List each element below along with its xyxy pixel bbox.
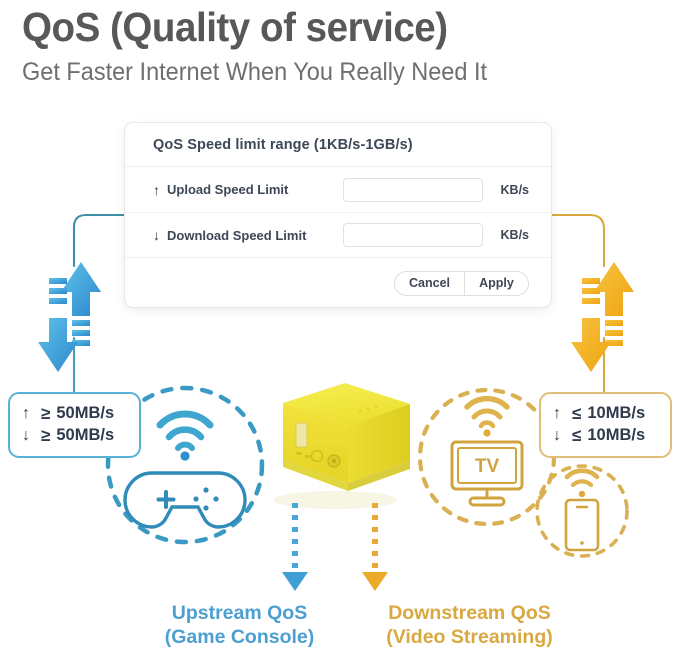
router-device [273, 383, 410, 509]
connector-left [50, 215, 124, 410]
gamepad-icon [125, 473, 245, 527]
dialog-title: QoS Speed limit range (1KB/s-1GB/s) [153, 137, 413, 153]
downstream-badge-line-download: ↓ ≤ 10MB/s [553, 425, 660, 447]
downstream-download-comparator: ≤ [572, 425, 581, 447]
downstream-flow-arrow-icon [362, 503, 388, 591]
diagram-artwork: TV [0, 0, 679, 657]
wifi-icon [567, 471, 597, 498]
arrow-up-icon: ↑ [22, 404, 35, 425]
downstream-download-value: 10MB/s [587, 425, 645, 446]
upstream-badge-line-download: ↓ ≥ 50MB/s [22, 425, 129, 447]
downstream-upload-comparator: ≤ [572, 403, 581, 425]
upstream-upload-value: 50MB/s [56, 403, 114, 424]
upstream-transfer-arrow-icon [38, 262, 101, 372]
page-subtitle: Get Faster Internet When You Really Need… [22, 58, 487, 87]
upstream-badge-line-upload: ↑ ≥ 50MB/s [22, 403, 129, 425]
downstream-caption: Downstream QoS (Video Streaming) [352, 602, 587, 650]
tv-icon [452, 442, 522, 505]
upstream-download-value: 50MB/s [56, 425, 114, 446]
upstream-caption: Upstream QoS (Game Console) [142, 602, 337, 650]
cancel-button[interactable]: Cancel [394, 271, 465, 296]
arrow-down-icon: ↓ [22, 426, 35, 447]
upstream-upload-comparator: ≥ [41, 403, 50, 425]
upload-speed-unit: KB/s [483, 183, 529, 197]
downstream-caption-line2: (Video Streaming) [352, 626, 587, 650]
infographic-canvas: QoS (Quality of service) Get Faster Inte… [0, 0, 679, 657]
qos-speed-limit-dialog[interactable]: QoS Speed limit range (1KB/s-1GB/s) ↑ Up… [124, 122, 552, 308]
tv-device-group: TV [420, 390, 554, 524]
page-title: QoS (Quality of service) [22, 4, 448, 51]
download-speed-limit-label: ↓ Download Speed Limit [153, 228, 306, 243]
dialog-header: QoS Speed limit range (1KB/s-1GB/s) [125, 123, 551, 167]
phone-device-group [537, 466, 627, 556]
upload-speed-limit-label: ↑ Upload Speed Limit [153, 182, 288, 197]
apply-button[interactable]: Apply [465, 271, 529, 296]
upstream-speed-badge: ↑ ≥ 50MB/s ↓ ≥ 50MB/s [8, 392, 141, 458]
smartphone-icon [566, 500, 598, 550]
upload-speed-limit-row: ↑ Upload Speed Limit KB/s [125, 167, 551, 212]
download-speed-limit-input[interactable] [343, 223, 483, 247]
arrow-down-icon: ↓ [153, 228, 160, 242]
arrow-up-icon: ↑ [553, 404, 566, 425]
upload-speed-limit-text: Upload Speed Limit [167, 182, 288, 197]
arrow-up-icon: ↑ [153, 183, 160, 197]
tv-screen-label: TV [475, 456, 500, 477]
wifi-icon [160, 414, 210, 461]
downstream-upload-value: 10MB/s [587, 403, 645, 424]
downstream-badge-line-upload: ↑ ≤ 10MB/s [553, 403, 660, 425]
dialog-footer: Cancel Apply [125, 257, 551, 308]
download-speed-limit-text: Download Speed Limit [167, 228, 306, 243]
arrow-down-icon: ↓ [553, 426, 566, 447]
upstream-caption-line1: Upstream QoS [142, 602, 337, 626]
connector-right [552, 215, 628, 410]
upstream-flow-arrow-icon [282, 503, 308, 591]
wifi-icon [467, 399, 507, 437]
downstream-transfer-arrow-icon [571, 262, 634, 372]
downstream-speed-badge: ↑ ≤ 10MB/s ↓ ≤ 10MB/s [539, 392, 672, 458]
upload-speed-limit-input[interactable] [343, 178, 483, 202]
upstream-download-comparator: ≥ [41, 425, 50, 447]
download-speed-unit: KB/s [483, 228, 529, 242]
downstream-caption-line1: Downstream QoS [352, 602, 587, 626]
upstream-caption-line2: (Game Console) [142, 626, 337, 650]
download-speed-limit-row: ↓ Download Speed Limit KB/s [125, 212, 551, 257]
